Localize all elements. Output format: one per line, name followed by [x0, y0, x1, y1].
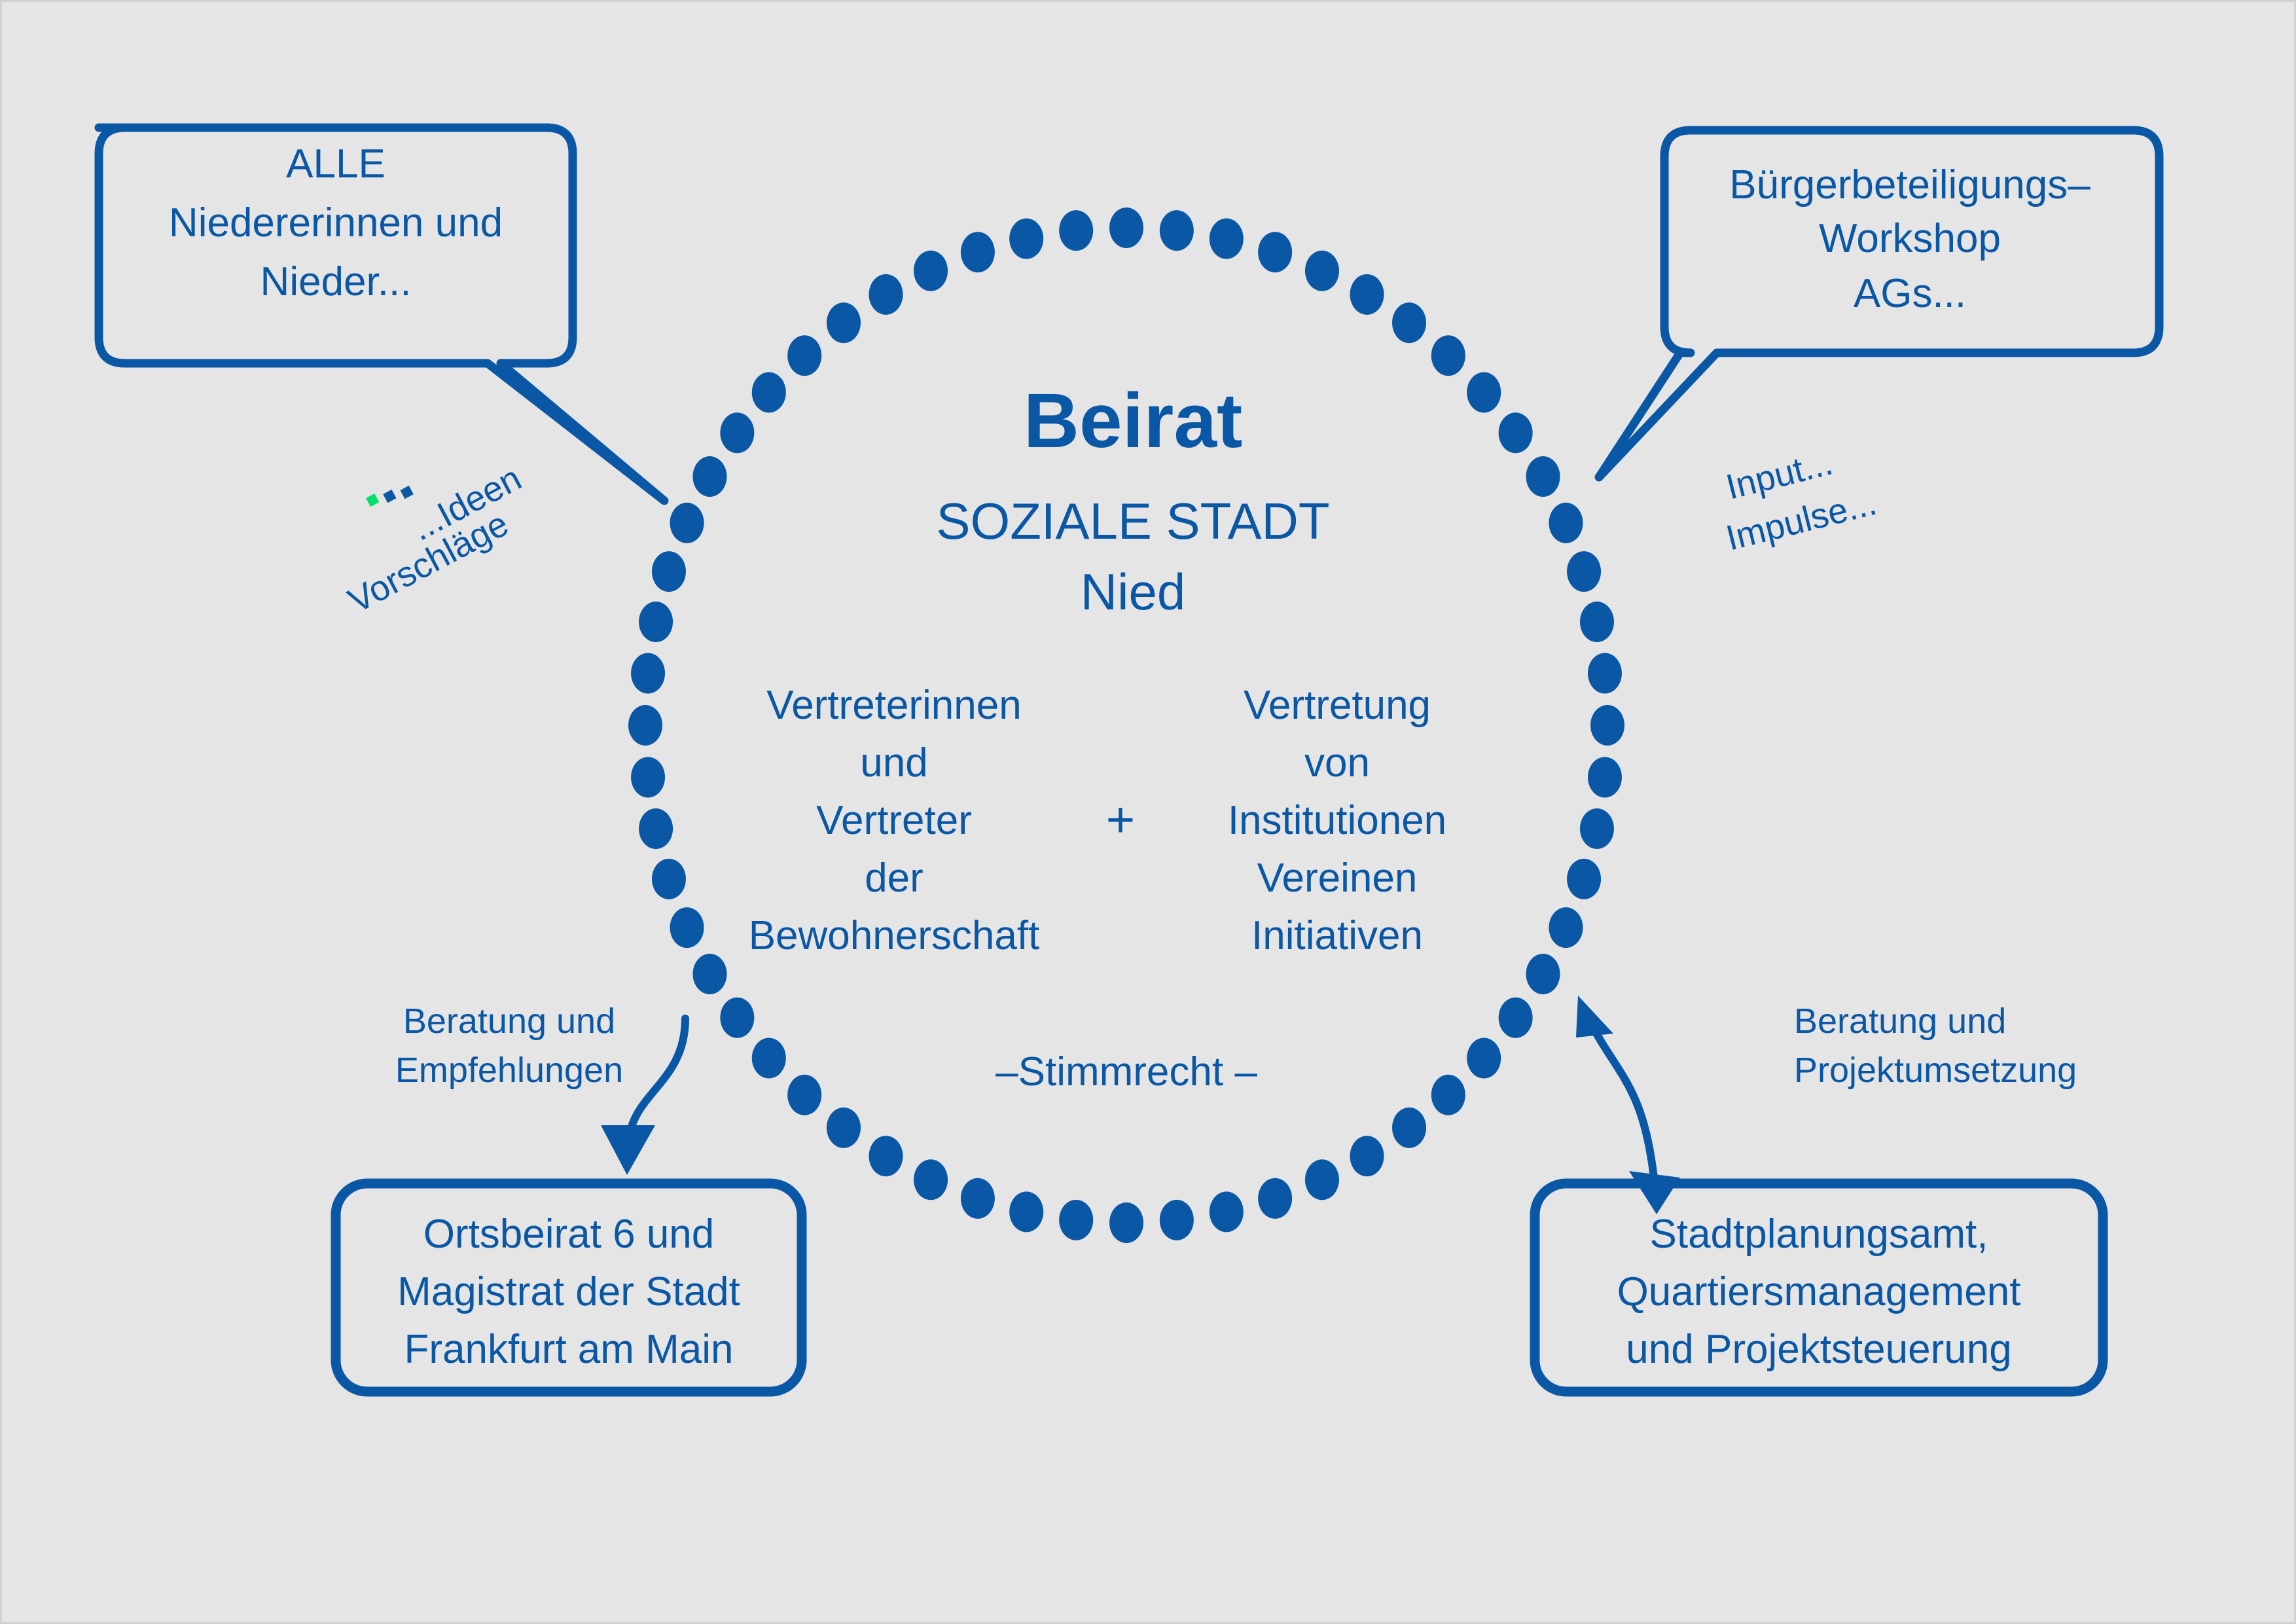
annotation-dot-blue-2 — [400, 486, 413, 499]
circle-dot — [1588, 757, 1622, 797]
circle-dot — [1567, 551, 1601, 592]
annotation-dot-blue-1 — [383, 490, 396, 503]
circle-dot — [692, 954, 726, 994]
box-bl-line-2: Magistrat der Stadt — [397, 1269, 740, 1314]
annotation-right-upper: Input... Impulse... — [1722, 442, 1880, 558]
circle-dot — [869, 1136, 903, 1176]
circle-dot — [1350, 274, 1384, 315]
circle-dot — [1258, 232, 1292, 272]
circle-dot — [752, 372, 786, 412]
circle-dot — [631, 653, 665, 694]
circle-dot — [1580, 602, 1614, 642]
double-arrow-head-up — [1576, 996, 1613, 1038]
circle-dot — [1059, 1200, 1093, 1240]
circle-dot — [1467, 372, 1501, 412]
circle-dot — [1431, 335, 1465, 376]
circle-dot — [1109, 208, 1143, 248]
circle-dot — [827, 302, 861, 343]
circle-dot — [692, 456, 726, 497]
circle-dot — [1160, 1200, 1194, 1240]
circle-dot — [1526, 456, 1560, 497]
circle-dot — [787, 335, 821, 376]
annotation-left-lower: Beratung und Empfehlungen — [395, 1001, 685, 1175]
center-subtitle-2: Nied — [1081, 563, 1185, 621]
circle-dot — [1567, 859, 1601, 899]
double-arrow-shaft — [1592, 1026, 1655, 1184]
plus-sign: + — [1106, 792, 1135, 848]
circle-dot — [914, 251, 948, 291]
circle-dot — [869, 274, 903, 315]
bubble-tr-line-3: AGs... — [1854, 271, 1966, 316]
circle-dot — [652, 859, 686, 899]
circle-dot — [1499, 412, 1533, 453]
bubble-tl-line-2: Niedererinnen und — [169, 200, 503, 245]
annotation-dot-green — [366, 494, 379, 507]
circle-dot — [670, 907, 704, 948]
circle-dot — [1305, 251, 1339, 291]
annotation-right-lower-line-1: Beratung und — [1794, 1001, 2006, 1041]
circle-dot — [1109, 1202, 1143, 1243]
center-right-col-line-4: Vereinen — [1257, 856, 1418, 901]
arrow-to-bottom-left-shaft — [632, 1019, 685, 1127]
circle-dot — [1549, 503, 1583, 543]
double-arrow-head-down — [1629, 1171, 1680, 1214]
circle-dot — [1549, 907, 1583, 948]
center-right-col-line-2: von — [1304, 740, 1370, 785]
annotation-left-upper: ...Ideen Vorschläge — [342, 458, 528, 621]
circle-dot — [961, 1178, 995, 1219]
circle-dot — [787, 1075, 821, 1115]
circle-dot — [628, 705, 662, 746]
center-footer-stimmrecht: –Stimmrecht – — [996, 1049, 1257, 1094]
circle-dot — [670, 503, 704, 543]
circle-dot — [1305, 1159, 1339, 1200]
circle-dot — [652, 551, 686, 592]
circle-dot — [1392, 1108, 1426, 1148]
box-bottom-right[interactable]: Stadtplanungsamt, Quartiersmanagement un… — [1535, 1183, 2103, 1392]
box-br-line-2: Quartiersmanagement — [1617, 1269, 2021, 1314]
circle-dot — [639, 602, 673, 642]
circle-dot — [720, 412, 754, 453]
box-br-line-3: und Projektsteuerung — [1626, 1327, 2011, 1372]
box-bottom-left[interactable]: Ortsbeirat 6 und Magistrat der Stadt Fra… — [336, 1183, 802, 1392]
circle-dot — [914, 1159, 948, 1200]
circle-dot — [1431, 1075, 1465, 1115]
annotation-right-lower-line-2: Projektumsetzung — [1794, 1051, 2077, 1090]
circle-dot — [1160, 210, 1194, 251]
arrow-to-bottom-left-head — [601, 1125, 655, 1175]
center-left-col-line-2: und — [860, 740, 927, 785]
bubble-tr-line-2: Workshop — [1819, 216, 2001, 261]
beirat-diagram: ALLE Niedererinnen und Nieder... Bürgerb… — [2, 2, 2296, 1624]
center-subtitle-1: SOZIALE STADT — [937, 492, 1330, 550]
center-left-col-line-5: Bewohnerschaft — [749, 913, 1040, 958]
center-left-col-line-3: Vertreter — [816, 798, 972, 843]
center-left-col-line-4: der — [865, 856, 924, 901]
box-bl-line-3: Frankfurt am Main — [404, 1327, 733, 1372]
circle-dot — [1059, 210, 1093, 251]
circle-dot — [1590, 705, 1624, 746]
box-bl-line-1: Ortsbeirat 6 und — [423, 1212, 715, 1257]
circle-dot — [1526, 954, 1560, 994]
circle-dot — [720, 998, 754, 1038]
annotation-left-lower-line-1: Beratung und — [403, 1001, 615, 1041]
speech-bubble-top-right[interactable]: Bürgerbeteiligungs– Workshop AGs... — [1599, 130, 2159, 477]
bubble-tr-line-1: Bürgerbeteiligungs– — [1729, 162, 2090, 208]
circle-dot — [1210, 219, 1244, 259]
center-title: Beirat — [1024, 378, 1242, 464]
circle-dot — [1258, 1178, 1292, 1219]
circle-dot — [961, 232, 995, 272]
circle-dot — [1350, 1136, 1384, 1176]
circle-dot — [639, 808, 673, 849]
center-content: Beirat SOZIALE STADT Nied Vertreterinnen… — [749, 378, 1446, 1094]
circle-dot — [631, 757, 665, 797]
circle-dot — [1009, 1191, 1043, 1232]
circle-dot — [1499, 998, 1533, 1038]
circle-dot — [1467, 1038, 1501, 1079]
center-right-col-line-1: Vertretung — [1244, 683, 1431, 728]
circle-dot — [1392, 302, 1426, 343]
circle-dot — [1588, 653, 1622, 694]
bubble-tl-line-1: ALLE — [286, 141, 386, 187]
circle-dot — [1580, 808, 1614, 849]
box-br-line-1: Stadtplanungsamt, — [1649, 1212, 1988, 1257]
circle-dot — [752, 1038, 786, 1079]
diagram-canvas: ALLE Niedererinnen und Nieder... Bürgerb… — [0, 0, 2296, 1624]
circle-dot — [827, 1108, 861, 1148]
circle-dot — [1009, 219, 1043, 259]
center-left-col-line-1: Vertreterinnen — [766, 683, 1021, 728]
annotation-left-lower-line-2: Empfehlungen — [395, 1051, 623, 1090]
center-right-col-line-5: Initiativen — [1251, 913, 1423, 958]
bubble-tl-line-3: Nieder... — [260, 259, 412, 304]
center-right-col-line-3: Institutionen — [1228, 798, 1446, 843]
speech-bubble-top-left[interactable]: ALLE Niedererinnen und Nieder... — [99, 128, 664, 501]
circle-dot — [1210, 1191, 1244, 1232]
